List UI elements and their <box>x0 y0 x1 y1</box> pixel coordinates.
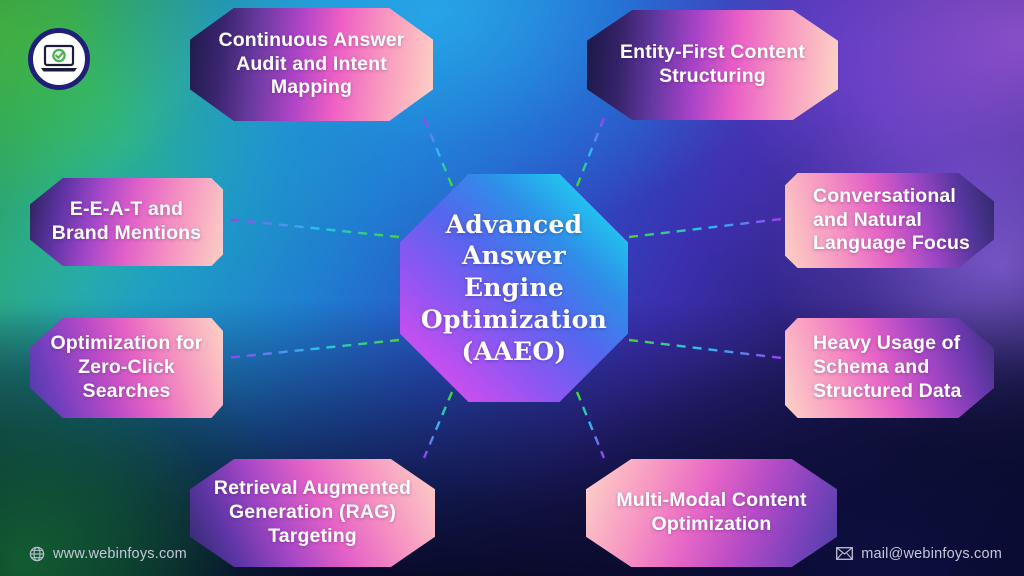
hub-line-2: Answer <box>421 240 607 272</box>
node-schema-structured-data[interactable]: Heavy Usage of Schema and Structured Dat… <box>785 318 994 418</box>
central-hub-node[interactable]: Advanced Answer Engine Optimization (AAE… <box>400 174 628 402</box>
hub-line-5: (AAEO) <box>421 336 607 368</box>
node-entity-first-content-label: Entity-First Content Structuring <box>587 41 838 89</box>
footer-email[interactable]: mail@webinfoys.com <box>836 545 1002 562</box>
brand-logo[interactable] <box>28 28 90 90</box>
node-zero-click-optimization-label: Optimization for Zero-Click Searches <box>30 332 223 404</box>
infographic-canvas: Advanced Answer Engine Optimization (AAE… <box>0 0 1024 576</box>
footer-website-text: www.webinfoys.com <box>53 546 187 562</box>
node-continuous-answer-audit[interactable]: Continuous Answer Audit and Intent Mappi… <box>190 8 433 121</box>
hub-line-1: Advanced <box>421 209 607 241</box>
node-schema-structured-data-label: Heavy Usage of Schema and Structured Dat… <box>785 332 994 404</box>
footer-website[interactable]: www.webinfoys.com <box>28 545 187 562</box>
node-rag-targeting-label: Retrieval Augmented Generation (RAG) Tar… <box>190 477 435 549</box>
node-zero-click-optimization[interactable]: Optimization for Zero-Click Searches <box>30 318 223 418</box>
node-eeat-brand-mentions[interactable]: E-E-A-T and Brand Mentions <box>30 178 223 266</box>
hub-line-4: Optimization <box>421 304 607 336</box>
node-conversational-natural-language-label: Conversational and Natural Language Focu… <box>785 185 994 257</box>
node-rag-targeting[interactable]: Retrieval Augmented Generation (RAG) Tar… <box>190 459 435 567</box>
central-hub-title: Advanced Answer Engine Optimization (AAE… <box>415 209 613 368</box>
node-entity-first-content[interactable]: Entity-First Content Structuring <box>587 10 838 120</box>
node-multi-modal-content-label: Multi-Modal Content Optimization <box>586 489 837 537</box>
globe-icon <box>28 545 45 562</box>
laptop-check-icon <box>39 43 79 75</box>
node-multi-modal-content[interactable]: Multi-Modal Content Optimization <box>586 459 837 567</box>
envelope-icon <box>836 545 853 562</box>
footer-email-text: mail@webinfoys.com <box>861 546 1002 562</box>
node-conversational-natural-language[interactable]: Conversational and Natural Language Focu… <box>785 173 994 268</box>
node-eeat-brand-mentions-label: E-E-A-T and Brand Mentions <box>30 198 223 246</box>
node-continuous-answer-audit-label: Continuous Answer Audit and Intent Mappi… <box>190 29 433 101</box>
hub-line-3: Engine <box>421 272 607 304</box>
